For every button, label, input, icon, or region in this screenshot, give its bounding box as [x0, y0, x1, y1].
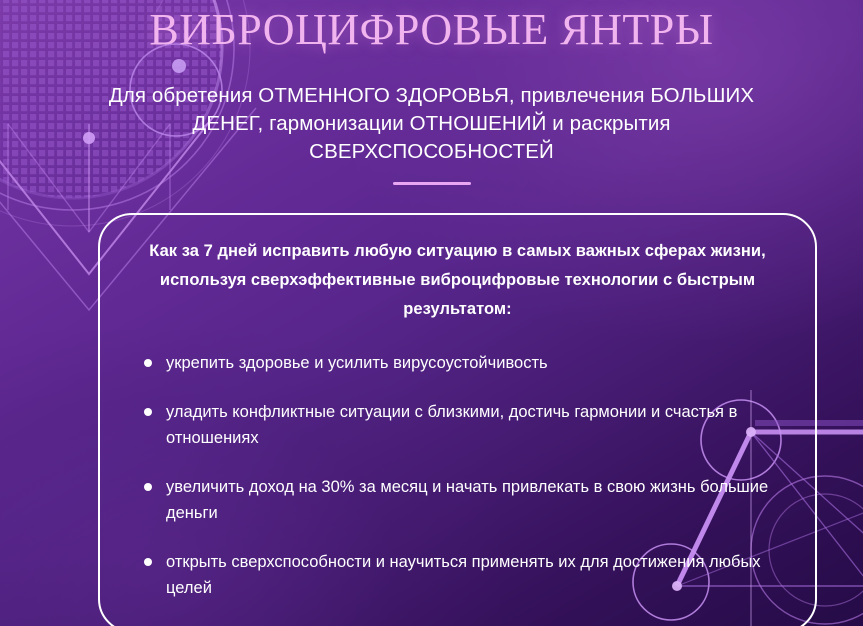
page-subtitle: Для обретения ОТМЕННОГО ЗДОРОВЬЯ, привле…	[87, 82, 777, 166]
card-heading: Как за 7 дней исправить любую ситуацию в…	[100, 215, 815, 324]
list-item-label: уладить конфликтные ситуации с близкими,…	[166, 403, 737, 447]
list-item: открыть сверхспособности и научиться при…	[140, 549, 769, 601]
benefits-card: Как за 7 дней исправить любую ситуацию в…	[98, 213, 817, 626]
list-item: уладить конфликтные ситуации с близкими,…	[140, 399, 769, 451]
list-item-label: увеличить доход на 30% за месяц и начать…	[166, 478, 768, 522]
bullet-dot-icon	[144, 483, 152, 491]
list-item: увеличить доход на 30% за месяц и начать…	[140, 474, 769, 526]
title-divider	[393, 182, 471, 185]
bullet-dot-icon	[144, 359, 152, 367]
page-header: ВИБРОЦИФРОВЫЕ ЯНТРЫ Для обретения ОТМЕНН…	[0, 0, 863, 185]
bullet-dot-icon	[144, 558, 152, 566]
bullet-dot-icon	[144, 408, 152, 416]
benefits-list: укрепить здоровье и усилить вирусоустойч…	[100, 350, 815, 601]
list-item-label: открыть сверхспособности и научиться при…	[166, 553, 761, 597]
list-item-label: укрепить здоровье и усилить вирусоустойч…	[166, 354, 548, 372]
page-title: ВИБРОЦИФРОВЫЕ ЯНТРЫ	[0, 0, 863, 56]
list-item: укрепить здоровье и усилить вирусоустойч…	[140, 350, 769, 376]
landing-page: ВИБРОЦИФРОВЫЕ ЯНТРЫ Для обретения ОТМЕНН…	[0, 0, 863, 626]
